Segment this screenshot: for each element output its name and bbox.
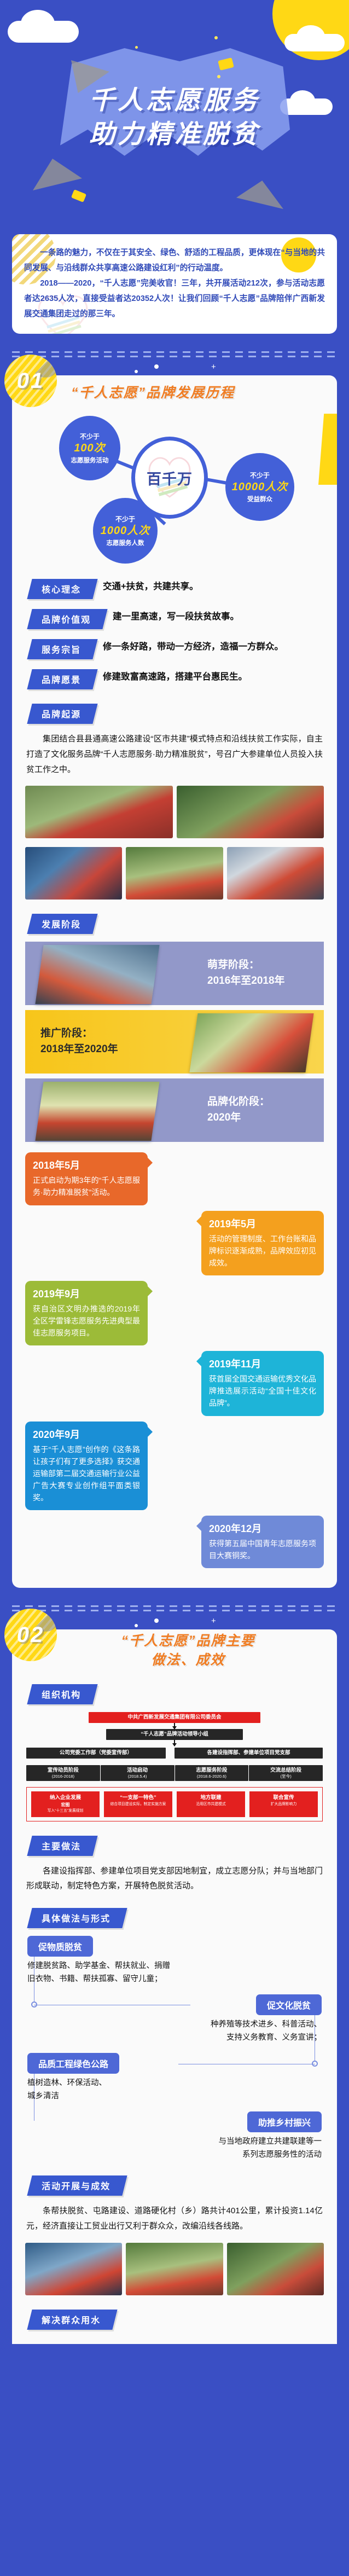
principle-label: 服务宗旨	[27, 639, 97, 659]
org-box-party-dept: 公司党委工作部（党委宣传部）	[26, 1748, 166, 1759]
section-02-number: 02	[4, 1609, 57, 1661]
detail-desc: 种养殖等技术进乡、科普活动、 支持义务教育、义务宣讲；	[27, 2018, 322, 2044]
org-box-committee: 中共广西新发展交通集团有限公司委员会	[89, 1712, 260, 1723]
stage-photo	[35, 945, 159, 1004]
org-phase-period: (2016-2018)	[30, 1774, 97, 1779]
org-phase-period: (2018.6-2020.6)	[178, 1774, 246, 1779]
principle-row: 品牌愿景 修建致富高速路，搭建平台惠民生。	[30, 668, 324, 689]
photo-thumbnail	[126, 2243, 223, 2295]
timeline-text: 活动的管理制度、工作台账和品牌标识逐渐成熟，品牌效应初见成效。	[209, 1233, 316, 1269]
detail-desc: 植树造林、环保活动、 城乡清洁	[27, 2077, 322, 2103]
stage-row-3: 品牌化阶段： 2020年	[25, 1078, 324, 1142]
stage-row-1: 萌芽阶段： 2016年至2018年	[25, 942, 324, 1005]
bottom-label: 解决群众用水	[42, 2313, 101, 2326]
section-02-title-line2: 做法、成效	[50, 1651, 326, 1670]
section-02-card: 02 “千人志愿”品牌主要 做法、成效 组织机构 中共广西新发展交通集团有限公司…	[12, 1629, 337, 2343]
measure-title: 地方联建	[200, 1795, 221, 1801]
section-02-title: “千人志愿”品牌主要 做法、成效	[50, 1632, 326, 1670]
org-phase-name: 志愿服务阶段	[196, 1767, 227, 1773]
org-measure-box: 地方联建 沿用区市共建模式	[177, 1791, 245, 1817]
detail-label: 具体做法与形式	[42, 1911, 110, 1924]
photo-thumbnail	[25, 847, 122, 900]
org-label: 组织机构	[42, 1687, 81, 1701]
org-phase-box: 交流总结阶段 (至今)	[249, 1765, 323, 1781]
org-phase-box: 志愿服务阶段 (2018.6-2020.6)	[175, 1765, 249, 1781]
timeline-date: 2019年9月	[33, 1286, 140, 1301]
measure-sub: 宏图	[33, 1802, 98, 1808]
node-caption: 志愿服务人数	[107, 538, 144, 547]
timeline-date: 2019年11月	[209, 1356, 316, 1371]
detail-desc: 修建脱贫路、助学基金、帮扶就业、捐赠 旧衣物、书籍、帮扶孤寡、留守儿童；	[27, 1960, 322, 1986]
dashed-divider	[12, 1602, 337, 1617]
hero-title: 千人志愿服务 助力精准脱贫	[0, 83, 349, 151]
mindmap-center-node: 百千万	[131, 437, 208, 519]
principle-row: 品牌价值观 建一里高速，写一段扶贫故事。	[30, 608, 324, 629]
org-row-phases: 宣传动员阶段 (2016-2018) 活动启动 (2018.5.4) 志愿服务阶…	[26, 1765, 323, 1781]
cloud-decor-icon	[8, 21, 79, 43]
org-measure-box: 纳入企业发展 宏图 写入“十三五”发展规划	[31, 1791, 100, 1817]
stage-name: 推广阶段：	[40, 1028, 92, 1039]
timeline: 2018年5月 正式启动为期3年的“千人志愿服务·助力精准脱贫”活动。 2019…	[12, 1147, 337, 1568]
triangle-decor	[33, 159, 82, 190]
intro-paragraph-2: 2018——2020，“千人志愿”完美收官！三年，共开展活动212次，参与活动志…	[24, 276, 325, 322]
photo-grid-effect	[12, 2234, 337, 2295]
org-measures-group: 纳入企业发展 宏图 写入“十三五”发展规划 “一支部一特色” 综合项目建设实际，…	[26, 1787, 323, 1821]
principle-value: 修建致富高速路，搭建平台惠民生。	[103, 668, 247, 684]
detail-pill: 促物质脱贫	[27, 1936, 93, 1957]
principle-label: 核心理念	[27, 579, 97, 599]
timeline-bubble: 2019年9月 获自治区文明办推选的2019年全区学雷锋志愿服务先进典型最佳志愿…	[25, 1281, 148, 1345]
timeline-text: 基于“千人志愿”创作的《这条路让孩子们有了更多选择》获交通运输部第二届交通运输行…	[33, 1443, 140, 1504]
origin-label: 品牌起源	[42, 707, 81, 720]
intro-paragraph-1: 一条路的魅力，不仅在于其安全、绿色、舒适的工程品质，更体现在“与当地的共同发展、…	[24, 245, 325, 276]
dashed-divider	[12, 348, 337, 363]
org-phase-name: 活动启动	[127, 1767, 148, 1773]
practice-label: 主要做法	[42, 1839, 81, 1852]
stage-text: 推广阶段： 2018年至2020年	[40, 1026, 142, 1058]
measure-title: “一支部一特色”	[120, 1795, 156, 1801]
photo-thumbnail	[25, 2243, 122, 2295]
plus-decor-icon: +	[211, 362, 216, 372]
stage-row-2: 推广阶段： 2018年至2020年	[25, 1010, 324, 1074]
stage-period: 2020年	[207, 1112, 241, 1123]
detail-pill: 助推乡村振兴	[247, 2111, 322, 2132]
footer-strip	[0, 2344, 349, 2358]
hero-banner: 千人志愿服务 助力精准脱贫 +	[0, 0, 349, 224]
cloud-decor-icon	[284, 34, 345, 51]
org-connector	[174, 1740, 175, 1746]
photo-grid-origin	[12, 777, 337, 838]
org-row-second: “千人志愿”品牌活动领导小组	[26, 1729, 323, 1740]
infographic-page: 千人志愿服务 助力精准脱贫 + 一条路的魅力，不仅在于其安全、绿色、舒适的工程品…	[0, 0, 349, 2358]
org-row-top: 中共广西新发展交通集团有限公司委员会	[26, 1712, 323, 1723]
measure-note: 沿用区市共建模式	[178, 1802, 243, 1807]
timeline-item-6: 2020年12月 获得第五届中国青年志愿服务项目大赛铜奖。	[25, 1516, 324, 1568]
section-01-card: 01 “千人志愿”品牌发展历程 不少于 100次 志愿服务活动	[12, 375, 337, 1588]
org-box-leadgroup: “千人志愿”品牌活动领导小组	[106, 1729, 242, 1740]
timeline-bubble: 2019年5月 活动的管理制度、工作台账和品牌标识逐渐成熟，品牌效应初见成效。	[201, 1211, 324, 1275]
timeline-date: 2020年12月	[209, 1521, 316, 1535]
detail-heading: 具体做法与形式	[30, 1908, 337, 1928]
timeline-date: 2020年9月	[33, 1427, 140, 1441]
section-02-badge: 02	[4, 1609, 57, 1661]
principle-value: 建一里高速，写一段扶贫故事。	[113, 608, 239, 624]
timeline-bubble: 2019年11月 获首届全国交通运输优秀文化品牌推选展示活动“全国十佳文化品牌”…	[201, 1351, 324, 1415]
node-prefix: 不少于	[115, 514, 135, 524]
section-02-title-line1: “千人志愿”品牌主要	[50, 1632, 326, 1651]
detail-bracket-list: 促物质脱贫 修建脱贫路、助学基金、帮扶就业、捐赠 旧衣物、书籍、帮扶孤寡、留守儿…	[12, 1928, 337, 2161]
mindmap-center-label: 百千万	[147, 467, 193, 489]
brand-principles-list: 核心理念 交通+扶贫，共建共享。 品牌价值观 建一里高速，写一段扶贫故事。 服务…	[12, 578, 337, 689]
measure-note: 扩大品牌影响力	[251, 1802, 316, 1807]
mindmap-diagram: 不少于 100次 志愿服务活动 百千万 不少于 10000人次	[12, 410, 337, 569]
dot-decor	[135, 1624, 138, 1627]
node-value: 100次	[74, 442, 105, 454]
stage-photo	[189, 1013, 313, 1072]
photo-thumbnail	[177, 786, 324, 838]
org-phase-box: 宣传动员阶段 (2016-2018)	[26, 1765, 100, 1781]
detail-pill: 促文化脱贫	[256, 1994, 322, 2015]
detail-desc: 与当地政府建立共建联建等一 系列志愿服务性的活动	[27, 2136, 322, 2161]
detail-item-culture: 促文化脱贫 种养殖等技术进乡、科普活动、 支持义务教育、义务宣讲；	[27, 1994, 322, 2044]
timeline-item-2: 2019年5月 活动的管理制度、工作台账和品牌标识逐渐成熟，品牌效应初见成效。	[25, 1211, 324, 1275]
stage-name: 萌芽阶段：	[207, 959, 259, 971]
section-01-number: 01	[4, 355, 57, 407]
stage-text: 萌芽阶段： 2016年至2018年	[207, 958, 309, 989]
dot-decor	[135, 370, 138, 373]
principle-row: 服务宗旨 修一条好路，带动一方经济，造福一方群众。	[30, 638, 324, 659]
principle-label: 品牌愿景	[27, 669, 97, 689]
practice-paragraph: 各建设指挥部、参建单位项目党支部因地制宜，成立志愿分队；并与当地部门形成联动，制…	[12, 1856, 337, 1894]
timeline-text: 正式启动为期3年的“千人志愿服务·助力精准脱贫”活动。	[33, 1174, 140, 1198]
timeline-bubble: 2020年9月 基于“千人志愿”创作的《这条路让孩子们有了更多选择》获交通运输部…	[25, 1422, 148, 1511]
org-phase-period: (2018.5.4)	[104, 1774, 171, 1779]
org-connector	[174, 1723, 175, 1729]
photo-thumbnail	[25, 786, 173, 838]
mindmap-node-beneficiaries: 不少于 10000人次 受益群众	[225, 453, 294, 521]
stage-text: 品牌化阶段： 2020年	[207, 1094, 309, 1126]
org-phase-box: 活动启动 (2018.5.4)	[101, 1765, 174, 1781]
photo-grid-origin-2	[12, 838, 337, 900]
org-phase-name: 交流总结阶段	[270, 1767, 301, 1773]
org-chart: 中共广西新发展交通集团有限公司委员会 “千人志愿”品牌活动领导小组 公司党委工作…	[12, 1704, 337, 1821]
origin-paragraph: 集团结合县县通高速公路建设“区市共建”模式特点和沿线扶贫工作实际，自主打造了文化…	[12, 724, 337, 777]
intro-card: 一条路的魅力，不仅在于其安全、绿色、舒适的工程品质，更体现在“与当地的共同发展、…	[12, 234, 337, 334]
effect-paragraph: 条帮扶脱贫、屯路建设、道路硬化村（乡）路共计401公里，累计投资1.14亿元，经…	[12, 2196, 337, 2234]
section-01-badge: 01	[4, 355, 57, 407]
measure-title: 联合宣传	[273, 1795, 294, 1801]
principle-row: 核心理念 交通+扶贫，共建共享。	[30, 578, 324, 599]
origin-heading: 品牌起源	[30, 704, 337, 724]
measure-note: 综合项目建设实际，制定实施方案	[106, 1802, 171, 1807]
timeline-text: 获自治区文明办推选的2019年全区学雷锋志愿服务先进典型最佳志愿服务项目。	[33, 1303, 140, 1339]
dot-decor	[217, 75, 220, 78]
org-measure-box: 联合宣传 扩大品牌影响力	[249, 1791, 318, 1817]
org-phase-period: (至今)	[252, 1774, 319, 1779]
photo-thumbnail	[227, 847, 324, 900]
timeline-text: 获得第五届中国青年志愿服务项目大赛铜奖。	[209, 1538, 316, 1562]
mindmap-node-activities: 不少于 100次 志愿服务活动	[59, 416, 120, 480]
measure-note: 写入“十三五”发展规划	[33, 1809, 98, 1813]
section-02: 02 “千人志愿”品牌主要 做法、成效 组织机构 中共广西新发展交通集团有限公司…	[12, 1629, 337, 2343]
timeline-date: 2018年5月	[33, 1158, 140, 1172]
stage-heading: 发展阶段	[30, 914, 337, 934]
yellow-flake-decor	[71, 189, 86, 202]
node-value: 1000人次	[101, 525, 150, 537]
dot-decor	[135, 46, 138, 49]
intro-section: 一条路的魅力，不仅在于其安全、绿色、舒适的工程品质，更体现在“与当地的共同发展、…	[0, 234, 349, 334]
stage-name: 品牌化阶段：	[207, 1096, 270, 1107]
hero-title-line1: 千人志愿服务	[0, 83, 349, 117]
stage-period: 2018年至2020年	[40, 1043, 118, 1055]
node-prefix: 不少于	[80, 432, 100, 441]
section-01: 01 “千人志愿”品牌发展历程 不少于 100次 志愿服务活动	[12, 375, 337, 1588]
stage-period: 2016年至2018年	[207, 975, 285, 987]
node-value: 10000人次	[232, 481, 288, 493]
practice-heading: 主要做法	[30, 1836, 337, 1856]
timeline-item-5: 2020年9月 基于“千人志愿”创作的《这条路让孩子们有了更多选择》获交通运输部…	[25, 1422, 324, 1511]
plus-decor-icon: +	[211, 1616, 216, 1626]
timeline-item-3: 2019年9月 获自治区文明办推选的2019年全区学雷锋志愿服务先进典型最佳志愿…	[25, 1281, 324, 1345]
triangle-decor	[236, 181, 283, 209]
detail-item-green: 品质工程绿色公路 植树造林、环保活动、 城乡清洁	[27, 2053, 322, 2103]
dot-decor	[154, 1618, 159, 1623]
dot-decor	[154, 364, 159, 369]
principle-value: 修一条好路，带动一方经济，造福一方群众。	[103, 638, 283, 654]
effect-heading: 活动开展与成效	[30, 2175, 337, 2196]
hero-title-line2: 助力精准脱贫	[0, 117, 349, 151]
measure-title: 纳入企业发展	[50, 1795, 81, 1801]
timeline-bubble: 2020年12月 获得第五届中国青年志愿服务项目大赛铜奖。	[201, 1516, 324, 1568]
org-phase-name: 宣传动员阶段	[48, 1767, 79, 1773]
timeline-text: 获首届全国交通运输优秀文化品牌推选展示活动“全国十佳文化品牌”。	[209, 1373, 316, 1409]
node-caption: 受益群众	[247, 495, 272, 503]
detail-pill: 品质工程绿色公路	[27, 2053, 119, 2074]
detail-item-rural: 助推乡村振兴 与当地政府建立共建联建等一 系列志愿服务性的活动	[27, 2111, 322, 2161]
timeline-item-1: 2018年5月 正式启动为期3年的“千人志愿服务·助力精准脱贫”活动。	[25, 1152, 324, 1205]
dot-decor	[214, 36, 218, 39]
principle-value: 交通+扶贫，共建共享。	[103, 578, 199, 594]
timeline-date: 2019年5月	[209, 1216, 316, 1231]
org-heading: 组织机构	[30, 1684, 337, 1704]
principle-label: 品牌价值观	[27, 609, 107, 629]
org-row-third: 公司党委工作部（党委宣传部） 各建设指挥部、参建单位项目党支部	[26, 1748, 323, 1759]
effect-label: 活动开展与成效	[42, 2179, 110, 2192]
detail-item-material: 促物质脱贫 修建脱贫路、助学基金、帮扶就业、捐赠 旧衣物、书籍、帮扶孤寡、留守儿…	[27, 1936, 322, 1986]
photo-thumbnail	[227, 2243, 324, 2295]
node-caption: 志愿服务活动	[71, 456, 109, 465]
photo-thumbnail	[126, 847, 223, 900]
timeline-item-4: 2019年11月 获首届全国交通运输优秀文化品牌推选展示活动“全国十佳文化品牌”…	[25, 1351, 324, 1415]
org-box-branches: 各建设指挥部、参建单位项目党支部	[174, 1748, 323, 1759]
stage-photo	[35, 1082, 159, 1141]
timeline-bubble: 2018年5月 正式启动为期3年的“千人志愿服务·助力精准脱贫”活动。	[25, 1152, 148, 1205]
stage-list: 萌芽阶段： 2016年至2018年 推广阶段： 2018年至2020年 品牌化阶…	[12, 934, 337, 1142]
org-measure-box: “一支部一特色” 综合项目建设实际，制定实施方案	[104, 1791, 172, 1817]
section-01-title: “千人志愿”品牌发展历程	[71, 382, 331, 402]
stage-label: 发展阶段	[42, 917, 81, 930]
bottom-heading: 解决群众用水	[30, 2310, 337, 2330]
node-prefix: 不少于	[250, 471, 270, 480]
